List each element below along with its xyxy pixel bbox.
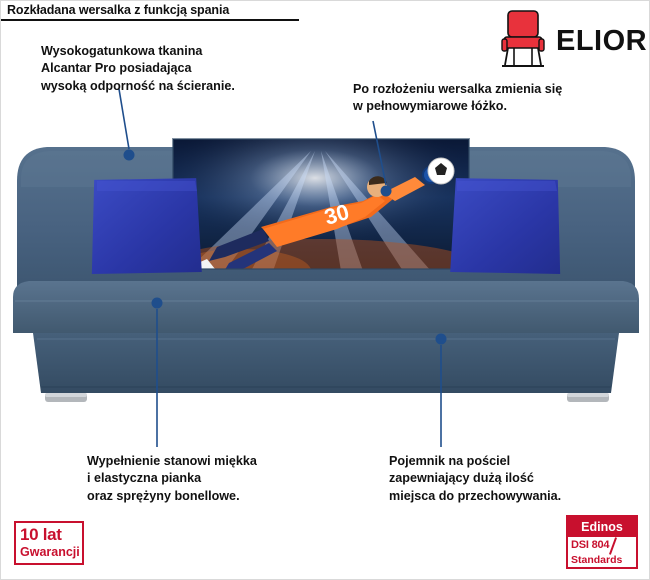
- warranty-label: Gwarancji: [20, 545, 80, 559]
- infographic-page: Rozkładana wersalka z funkcją spania ELI…: [0, 0, 650, 580]
- warranty-badge: 10 lat Gwarancji: [14, 521, 84, 565]
- certificate-code: DSI 804: [571, 539, 609, 551]
- title-bar: Rozkładana wersalka z funkcją spania: [1, 1, 299, 21]
- callout-storage: Pojemnik na pościel zapewniający dużą il…: [389, 453, 639, 505]
- callout-filling: Wypełnienie stanowi miękka i elastyczna …: [87, 453, 337, 505]
- sofa-graphic: 30: [11, 121, 641, 421]
- page-title: Rozkładana wersalka z funkcją spania: [7, 3, 229, 17]
- callout-bed: Po rozłożeniu wersalka zmienia się w peł…: [353, 81, 633, 116]
- brand-logo: ELIOR: [488, 9, 640, 71]
- certificate-standards: Standards: [571, 554, 622, 566]
- callout-fabric: Wysokogatunkowa tkanina Alcantar Pro pos…: [41, 43, 311, 95]
- brand-name: ELIOR: [556, 25, 647, 58]
- sofa-illustration: 30: [11, 121, 641, 421]
- certificate-slash-icon: [609, 537, 617, 555]
- warranty-years: 10 lat: [20, 525, 62, 545]
- certificate-badge: Edinos DSI 804 Standards: [566, 515, 638, 569]
- chair-icon: [496, 9, 550, 71]
- certificate-title: Edinos: [568, 517, 636, 537]
